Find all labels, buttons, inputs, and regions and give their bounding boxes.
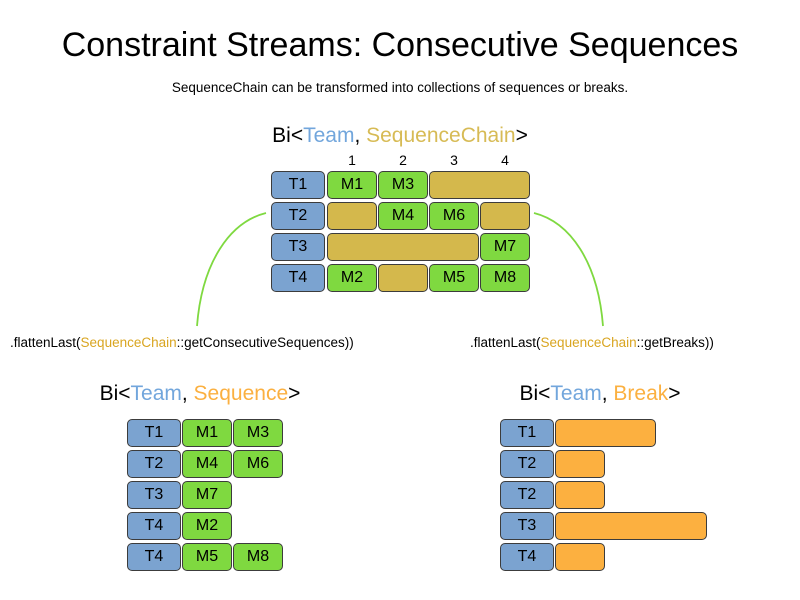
chain-gap-cell[interactable] [327,233,479,261]
break-bar[interactable] [555,419,656,447]
chain-match-cell[interactable]: M8 [480,264,530,292]
sequence-team-cell[interactable]: T4 [127,512,181,540]
chain-row: T2M4M6 [271,202,527,232]
break-row: T1 [500,419,708,449]
sequence-team-cell[interactable]: T1 [127,419,181,447]
connector-left-curve [197,213,266,326]
column-number-4: 4 [480,152,530,168]
flatten-breaks-label[interactable]: .flattenLast(SequenceChain::getBreaks)) [470,335,714,350]
chain-row: T1M1M3 [271,171,527,201]
chain-type-header: Bi<Team, SequenceChain> [0,124,800,148]
break-header-prefix: Bi< [519,382,550,405]
break-header-separator: , [602,382,614,405]
right-method-type: SequenceChain [541,335,637,350]
sequence-header-team: Team [131,382,182,405]
connector-right-curve [534,213,603,326]
break-header-suffix: > [668,382,680,405]
chain-row: T4M2M5M8 [271,264,527,294]
chain-header-prefix: Bi< [272,124,303,147]
chain-match-cell[interactable]: M7 [480,233,530,261]
sequence-header-prefix: Bi< [100,382,131,405]
sequence-match-cell[interactable]: M3 [233,419,283,447]
chain-column-ruler: 1234 [327,152,527,170]
break-team-cell[interactable]: T3 [500,512,554,540]
break-row: T3 [500,512,708,542]
column-number-3: 3 [429,152,479,168]
sequence-type-header: Bi<Team, Sequence> [0,382,400,406]
chain-match-cell[interactable]: M3 [378,171,428,199]
break-bar[interactable] [555,512,707,540]
left-method-name: ::getConsecutiveSequences)) [177,335,354,350]
chain-header-team: Team [303,124,354,147]
chain-match-cell[interactable]: M1 [327,171,377,199]
right-method-prefix: .flattenLast( [470,335,541,350]
flatten-consecutive-sequences-label[interactable]: .flattenLast(SequenceChain::getConsecuti… [10,335,354,350]
chain-match-cell[interactable]: M6 [429,202,479,230]
chain-gap-cell[interactable] [378,264,428,292]
sequence-team-cell[interactable]: T3 [127,481,181,509]
chain-header-type: SequenceChain [366,124,515,147]
chain-match-cell[interactable]: M4 [378,202,428,230]
left-method-type: SequenceChain [81,335,177,350]
break-bar[interactable] [555,481,605,509]
sequence-match-cell[interactable]: M5 [182,543,232,571]
sequence-header-separator: , [182,382,194,405]
page-title: Constraint Streams: Consecutive Sequence… [0,26,800,65]
chain-match-cell[interactable]: M2 [327,264,377,292]
break-row: T4 [500,543,708,573]
break-row: T2 [500,481,708,511]
break-type-header: Bi<Team, Break> [400,382,800,406]
chain-header-separator: , [354,124,366,147]
break-bar[interactable] [555,543,605,571]
sequence-match-cell[interactable]: M1 [182,419,232,447]
column-number-1: 1 [327,152,377,168]
column-number-2: 2 [378,152,428,168]
chain-row: T3M7 [271,233,527,263]
sequence-team-cell[interactable]: T2 [127,450,181,478]
page-subtitle: SequenceChain can be transformed into co… [0,80,800,95]
right-method-name: ::getBreaks)) [637,335,714,350]
sequence-row: T4M2 [127,512,284,542]
left-method-prefix: .flattenLast( [10,335,81,350]
chain-team-cell[interactable]: T2 [271,202,325,230]
break-team-cell[interactable]: T1 [500,419,554,447]
sequence-team-cell[interactable]: T4 [127,543,181,571]
chain-gap-cell[interactable] [429,171,530,199]
sequence-match-cell[interactable]: M6 [233,450,283,478]
break-header-team: Team [550,382,601,405]
sequence-header-type: Sequence [194,382,289,405]
chain-gap-cell[interactable] [327,202,377,230]
break-row: T2 [500,450,708,480]
break-team-cell[interactable]: T2 [500,481,554,509]
sequence-row: T3M7 [127,481,284,511]
chain-team-cell[interactable]: T3 [271,233,325,261]
sequence-match-cell[interactable]: M8 [233,543,283,571]
chain-header-suffix: > [516,124,528,147]
sequence-match-cell[interactable]: M7 [182,481,232,509]
chain-gap-cell[interactable] [480,202,530,230]
sequence-header-suffix: > [288,382,300,405]
sequence-match-cell[interactable]: M4 [182,450,232,478]
break-team-cell[interactable]: T4 [500,543,554,571]
sequence-row: T4M5M8 [127,543,284,573]
sequence-row: T1M1M3 [127,419,284,449]
chain-team-cell[interactable]: T4 [271,264,325,292]
break-header-type: Break [613,382,668,405]
sequence-table: T1M1M3T2M4M6T3M7T4M2T4M5M8 [127,419,284,574]
sequence-chain-grid: T1M1M3T2M4M6T3M7T4M2M5M8 [271,171,527,295]
break-table: T1T2T2T3T4 [500,419,708,574]
break-team-cell[interactable]: T2 [500,450,554,478]
break-bar[interactable] [555,450,605,478]
chain-team-cell[interactable]: T1 [271,171,325,199]
chain-match-cell[interactable]: M5 [429,264,479,292]
sequence-row: T2M4M6 [127,450,284,480]
sequence-match-cell[interactable]: M2 [182,512,232,540]
